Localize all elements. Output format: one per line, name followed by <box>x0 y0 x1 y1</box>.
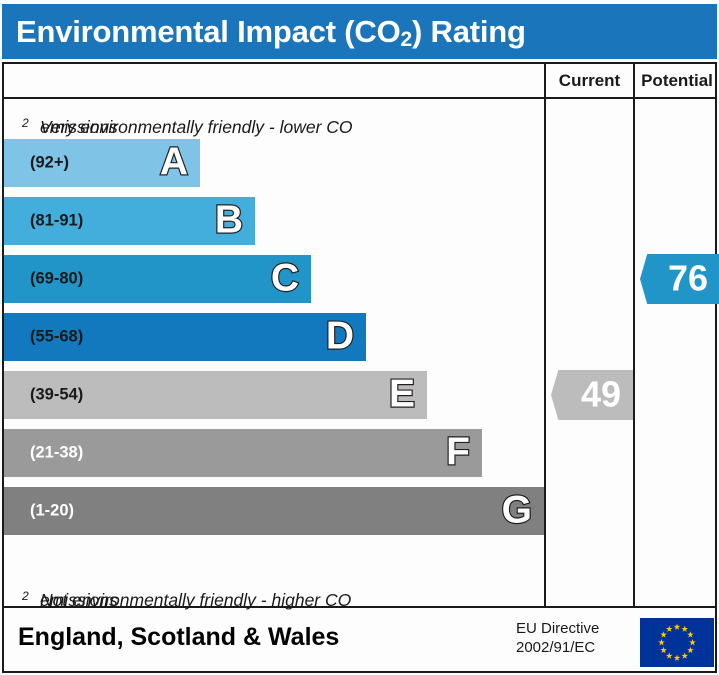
potential-rating-cell: 76 <box>635 254 719 304</box>
band-letter-g: G <box>502 491 532 530</box>
band-row-a: (92+) A <box>4 139 200 187</box>
band-range-e: (39-54) <box>30 386 83 405</box>
caption-bottom-subscript: 2 <box>22 589 29 603</box>
caption-very-friendly: Very environmentally friendly - lower CO… <box>4 99 544 135</box>
footer-directive-line1: EU Directive <box>516 620 631 639</box>
potential-rating-arrow: 76 <box>640 254 719 304</box>
eu-flag-icon <box>640 618 714 667</box>
band-range-a: (92+) <box>30 154 69 173</box>
band-letter-b: B <box>215 201 243 240</box>
page-title-subscript: 2 <box>401 28 412 51</box>
band-range-f: (21-38) <box>30 444 83 463</box>
band-row-f: (21-38) F <box>4 429 482 477</box>
chart-frame: Current Potential Very environmentally f… <box>2 62 717 673</box>
band-row-b: (81-91) B <box>4 197 255 245</box>
page-title-suffix: ) Rating <box>412 14 526 49</box>
page-title-prefix: Environmental Impact (CO <box>16 14 401 49</box>
column-header-row: Current Potential <box>4 64 715 99</box>
current-rating-arrow: 49 <box>551 370 633 420</box>
column-divider-potential <box>633 64 635 606</box>
column-header-current: Current <box>546 71 633 91</box>
band-row-d: (55-68) D <box>4 313 366 361</box>
band-letter-e: E <box>389 375 415 414</box>
band-range-d: (55-68) <box>30 328 83 347</box>
footer-directive: EU Directive 2002/91/EC <box>516 620 631 658</box>
footer-directive-line2: 2002/91/EC <box>516 639 631 658</box>
caption-not-friendly: Not environmentally friendly - higher CO… <box>4 572 544 608</box>
band-range-g: (1-20) <box>30 502 74 521</box>
band-letter-c: C <box>271 259 299 298</box>
band-row-c: (69-80) C <box>4 255 311 303</box>
band-letter-d: D <box>326 317 354 356</box>
epc-environmental-impact-chart: Environmental Impact (CO2) Rating Curren… <box>0 0 719 675</box>
band-letter-f: F <box>446 433 470 472</box>
page-title: Environmental Impact (CO2) Rating <box>16 14 526 50</box>
caption-top-subscript: 2 <box>22 116 29 130</box>
band-letter-a: A <box>160 143 188 182</box>
chart-title-bar: Environmental Impact (CO2) Rating <box>2 4 717 59</box>
band-range-c: (69-80) <box>30 270 83 289</box>
current-rating-cell: 49 <box>546 370 633 420</box>
footer: England, Scotland & Wales EU Directive 2… <box>4 608 715 673</box>
current-rating-value: 49 <box>581 376 621 412</box>
caption-top-suffix: emissions <box>40 117 118 138</box>
column-header-potential: Potential <box>635 71 719 91</box>
potential-rating-value: 76 <box>668 260 708 296</box>
band-row-e: (39-54) E <box>4 371 427 419</box>
footer-region-label: England, Scotland & Wales <box>18 623 339 652</box>
column-divider-current <box>544 64 546 606</box>
band-row-g: (1-20) G <box>4 487 544 535</box>
band-range-b: (81-91) <box>30 212 83 231</box>
